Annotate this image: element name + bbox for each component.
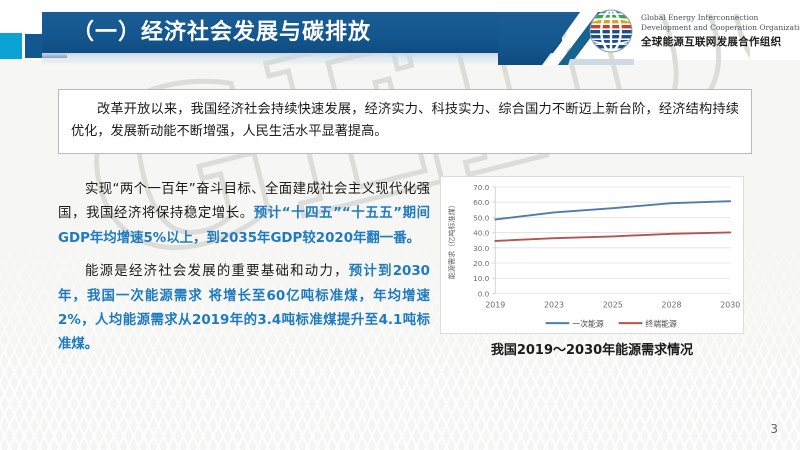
chart-y-tick-label: 30.0 [473, 244, 490, 253]
chart-y-tick-label: 50.0 [473, 213, 490, 222]
logo-en-line-2: Development and Cooperation Organization [641, 23, 800, 33]
intro-paragraph: 改革开放以来，我国经济社会持续快速发展，经济实力、科技实力、综合国力不断迈上新台… [71, 99, 739, 143]
chart-plot-area: 0.010.020.030.040.050.060.070.0能源需求（亿吨标准… [441, 177, 743, 333]
chart-y-tick-label: 0.0 [478, 289, 490, 298]
chart-y-tick-label: 10.0 [473, 274, 490, 283]
chart-y-tick-label: 40.0 [473, 229, 490, 238]
chart-x-tick-label: 2019 [485, 300, 505, 309]
chart-caption: 我国2019～2030年能源需求情况 [440, 339, 744, 358]
energy-demand-chart: 0.010.020.030.040.050.060.070.0能源需求（亿吨标准… [440, 176, 744, 334]
chart-x-tick-label: 2025 [603, 300, 623, 309]
logo-en-line-1: Global Energy Interconnection [641, 13, 800, 23]
slide-header: （一）经济社会发展与碳排放 [0, 0, 800, 78]
body-paragraph-1: 实现“两个一百年”奋斗目标、全面建成社会主义现代化强国，我国经济将保持稳定增长。… [58, 178, 430, 251]
logo-cn-name: 全球能源互联网发展合作组织 [641, 34, 800, 49]
chart-y-tick-label: 60.0 [473, 198, 490, 207]
chart-x-tick-label: 2028 [661, 300, 681, 309]
body-p2-plain: 能源是经济社会发展的重要基础和动力， [85, 264, 349, 279]
page-title: （一）经济社会发展与碳排放 [72, 14, 371, 51]
chart-x-tick-label: 2023 [544, 300, 564, 309]
page-number: 3 [770, 422, 778, 436]
globe-icon [588, 8, 634, 54]
chart-series-line [495, 201, 730, 219]
header-title-bar-shadow [42, 53, 562, 65]
chart-x-tick-label: 2030 [720, 300, 740, 309]
chart-y-tick-label: 70.0 [473, 183, 490, 192]
intro-paragraph-box: 改革开放以来，我国经济社会持续快速发展，经济实力、科技实力、综合国力不断迈上新台… [58, 89, 752, 154]
chart-series-line [495, 232, 730, 241]
chart-legend-label: 终端能源 [645, 318, 677, 328]
header-accent-square-cyan [0, 33, 22, 59]
organization-logo: Global Energy Interconnection Developmen… [588, 8, 800, 54]
body-text-column: 实现“两个一百年”奋斗目标、全面建成社会主义现代化强国，我国经济将保持稳定增长。… [58, 178, 430, 358]
chart-legend-label: 一次能源 [572, 318, 604, 328]
body-paragraph-2: 能源是经济社会发展的重要基础和动力，预计到2030年，我国一次能源需求 将增长至… [58, 260, 430, 358]
chart-y-tick-label: 20.0 [473, 259, 490, 268]
slide-canvas: GEIDCO （一） [0, 0, 800, 450]
chart-y-axis-label: 能源需求（亿吨标准煤） [447, 201, 456, 279]
